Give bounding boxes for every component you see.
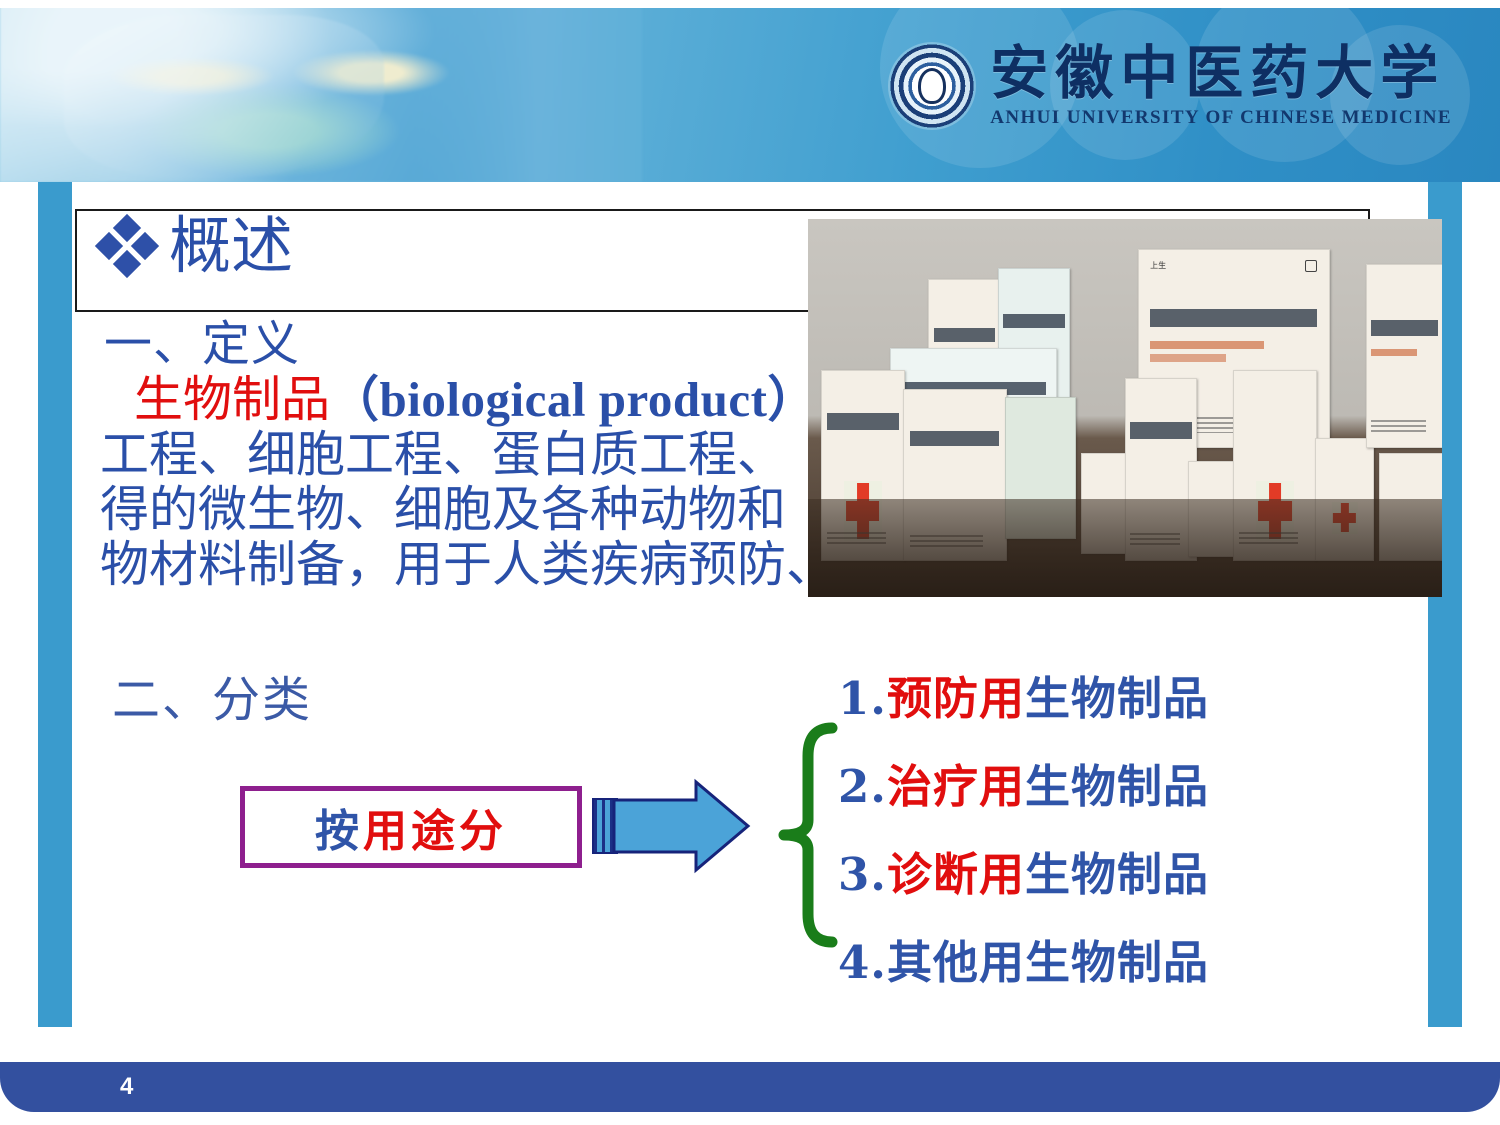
right-arrow-icon	[592, 778, 752, 874]
diamond-cluster-icon	[99, 218, 155, 274]
surgery-photo	[0, 0, 640, 182]
product-logo-icon	[1305, 260, 1317, 272]
university-logo: 安徽中医药大学 ANHUI UNIVERSITY OF CHINESE MEDI…	[890, 44, 1452, 128]
left-accent-bar	[38, 182, 72, 1027]
university-emblem-icon	[890, 44, 974, 128]
page-title: 概述	[169, 215, 293, 277]
university-name-en: ANHUI UNIVERSITY OF CHINESE MEDICINE	[990, 108, 1452, 127]
classification-heading: 二、分类	[112, 660, 312, 730]
university-name-cn: 安徽中医药大学	[990, 44, 1445, 102]
university-name-block: 安徽中医药大学 ANHUI UNIVERSITY OF CHINESE MEDI…	[990, 44, 1452, 127]
slide-header: 安徽中医药大学 ANHUI UNIVERSITY OF CHINESE MEDI…	[0, 0, 1500, 182]
list-item: 4.其他用生物制品	[838, 940, 1308, 985]
criterion-label: 按用途分	[315, 795, 507, 859]
category-list: 1.预防用生物制品 2.治疗用生物制品 3.诊断用生物制品 4.其他用生物制品	[838, 676, 1308, 985]
criterion-box: 按用途分	[240, 786, 582, 868]
title-inner: 概述	[99, 215, 293, 277]
surgical-gown-shape	[64, 15, 384, 179]
list-item: 3.诊断用生物制品	[838, 852, 1308, 897]
list-item: 2.治疗用生物制品	[838, 764, 1308, 809]
curly-brace-icon	[778, 722, 838, 948]
definition-term: 生物制品	[134, 371, 330, 428]
product-brand-label: 上生	[1150, 260, 1166, 271]
slide: 安徽中医药大学 ANHUI UNIVERSITY OF CHINESE MEDI…	[0, 0, 1500, 1125]
slide-footer: 4	[0, 1062, 1500, 1112]
list-item: 1.预防用生物制品	[838, 676, 1308, 721]
header-top-strip	[0, 0, 1500, 8]
shelf-reflection	[808, 499, 1442, 597]
definition-term-en: （biological product）	[330, 372, 817, 427]
page-number: 4	[120, 1073, 133, 1101]
product-box	[1366, 264, 1442, 447]
biological-products-photo: 上生	[808, 219, 1442, 597]
